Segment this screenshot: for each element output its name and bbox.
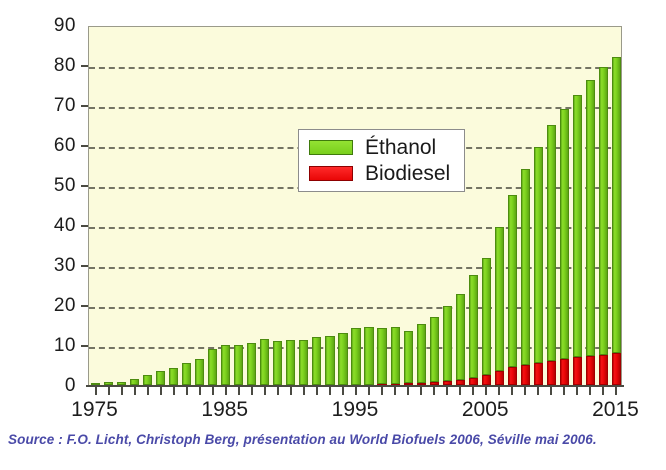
bar-segment-ethanol [443, 306, 452, 381]
y-axis-tick-label: 30 [54, 255, 76, 277]
x-axis-tick-mark [160, 386, 162, 395]
bar-segment-ethanol [195, 359, 204, 385]
bar-segment-ethanol [143, 375, 152, 385]
bar-segment-ethanol [508, 195, 517, 367]
bar-segment-ethanol [351, 328, 360, 385]
bar-group [377, 328, 386, 385]
x-axis-tick-mark [329, 386, 331, 395]
x-axis-tick-mark [368, 386, 370, 395]
legend-label-biodiesel: Biodiesel [365, 163, 450, 184]
bar-group [182, 363, 191, 385]
bar-segment-ethanol [325, 336, 334, 385]
bar-segment-ethanol [560, 109, 569, 359]
bar-segment-ethanol [299, 340, 308, 385]
bar-segment-ethanol [469, 275, 478, 378]
x-axis-tick-label: 2015 [592, 398, 639, 422]
x-axis-tick-mark [563, 386, 565, 395]
x-axis-tick-mark [186, 386, 188, 395]
y-axis-tick-label: 80 [54, 55, 76, 77]
bar-segment-ethanol [208, 349, 217, 385]
bar-group [417, 324, 426, 385]
bar-segment-ethanol [586, 80, 595, 356]
bar-group [456, 294, 465, 385]
y-axis-tick-mark [81, 345, 88, 347]
bar-segment-ethanol [234, 345, 243, 385]
y-axis: 0102030405060708090 [0, 0, 88, 412]
bar-group [156, 371, 165, 385]
bar-group [534, 147, 543, 385]
bar-group [521, 169, 530, 385]
bar-group [612, 57, 621, 385]
bar-group [430, 317, 439, 385]
bar-group [404, 331, 413, 385]
x-axis-tick-mark [316, 386, 318, 395]
bar-group [169, 368, 178, 385]
y-axis-tick-label: 0 [65, 375, 76, 397]
bar-segment-biodiesel [573, 357, 582, 385]
y-axis-tick-mark [81, 105, 88, 107]
y-axis-tick-label: 20 [54, 295, 76, 317]
bar-segment-ethanol [430, 317, 439, 382]
x-axis-tick-mark [264, 386, 266, 395]
x-axis-tick-mark [212, 386, 214, 395]
bar-group [482, 258, 491, 385]
bar-segment-biodiesel [495, 371, 504, 385]
x-axis-tick-mark [394, 386, 396, 395]
bar-segment-biodiesel [482, 375, 491, 385]
x-axis-tick-label: 1985 [201, 398, 248, 422]
bar-segment-ethanol [573, 95, 582, 357]
legend-swatch-ethanol [309, 140, 353, 155]
source-note: Source : F.O. Licht, Christoph Berg, pré… [8, 432, 597, 447]
y-axis-tick-mark [81, 305, 88, 307]
bar-segment-biodiesel [599, 355, 608, 385]
bar-group [260, 339, 269, 385]
bar-group [364, 327, 373, 385]
bar-group [573, 95, 582, 385]
bar-group [221, 345, 230, 385]
bar-group [299, 340, 308, 385]
bar-segment-ethanol [482, 258, 491, 375]
bar-segment-ethanol [338, 333, 347, 385]
chart-legend: Éthanol Biodiesel [298, 129, 465, 192]
bar-segment-biodiesel [586, 356, 595, 385]
bar-segment-ethanol [417, 324, 426, 383]
legend-item-ethanol: Éthanol [309, 137, 450, 158]
biofuel-production-chart: 0102030405060708090 Éthanol Biodiesel 19… [0, 0, 666, 470]
bar-segment-biodiesel [521, 365, 530, 385]
y-axis-tick-label: 90 [54, 15, 76, 37]
bar-group [312, 337, 321, 385]
x-axis-tick-mark [251, 386, 253, 395]
y-axis-tick-label: 60 [54, 135, 76, 157]
plot-area: Éthanol Biodiesel [88, 26, 622, 386]
bar-group [443, 306, 452, 385]
bar-group [560, 109, 569, 385]
bar-group [195, 359, 204, 385]
bar-group [508, 195, 517, 385]
y-axis-tick-mark [81, 265, 88, 267]
x-axis-tick-mark [459, 386, 461, 395]
bar-group [234, 345, 243, 385]
bar-group [391, 327, 400, 385]
bar-group [599, 67, 608, 385]
y-axis-tick-label: 50 [54, 175, 76, 197]
y-axis-tick-label: 40 [54, 215, 76, 237]
x-axis-tick-mark [446, 386, 448, 395]
bar-segment-ethanol [260, 339, 269, 385]
x-axis-tick-label: 1975 [71, 398, 118, 422]
x-axis-labels: 19751985199520052015 [0, 398, 666, 428]
x-axis-tick-mark [95, 386, 97, 395]
x-axis-tick-mark [511, 386, 513, 395]
bar-group [495, 227, 504, 385]
bar-segment-ethanol [547, 125, 556, 361]
bar-group [273, 341, 282, 385]
bar-segment-ethanol [534, 147, 543, 363]
y-axis-tick-mark [81, 185, 88, 187]
x-axis-tick-mark [420, 386, 422, 395]
y-axis-tick-label: 10 [54, 335, 76, 357]
bar-group [351, 328, 360, 385]
y-axis-tick-label: 70 [54, 95, 76, 117]
bar-segment-ethanol [391, 327, 400, 384]
x-axis-tick-mark [199, 386, 201, 395]
x-axis-tick-mark [381, 386, 383, 395]
y-axis-tick-mark [81, 225, 88, 227]
x-axis-ticks [88, 386, 622, 398]
bar-segment-ethanol [221, 345, 230, 385]
bar-segment-ethanol [599, 67, 608, 355]
x-axis-tick-mark [589, 386, 591, 395]
legend-swatch-biodiesel [309, 166, 353, 181]
bar-segment-biodiesel [547, 361, 556, 385]
x-axis-tick-mark [576, 386, 578, 395]
x-axis-tick-mark [225, 386, 227, 395]
x-axis-tick-mark [147, 386, 149, 395]
bar-segment-ethanol [247, 343, 256, 385]
legend-label-ethanol: Éthanol [365, 137, 436, 158]
y-axis-tick-mark [81, 145, 88, 147]
x-axis-tick-mark [485, 386, 487, 395]
x-axis-tick-mark [134, 386, 136, 395]
y-axis-tick-mark [81, 65, 88, 67]
x-axis-tick-mark [355, 386, 357, 395]
bar-segment-ethanol [612, 57, 621, 353]
bar-segment-ethanol [364, 327, 373, 385]
x-axis-tick-mark [433, 386, 435, 395]
bar-segment-ethanol [404, 331, 413, 384]
bar-segment-ethanol [169, 368, 178, 385]
bar-group [286, 340, 295, 385]
bar-segment-ethanol [312, 337, 321, 385]
bar-segment-ethanol [456, 294, 465, 380]
bar-group [208, 349, 217, 385]
x-axis-tick-mark [290, 386, 292, 395]
x-axis-tick-mark [108, 386, 110, 395]
bar-group [247, 343, 256, 385]
bar-segment-biodiesel [469, 378, 478, 385]
bar-segment-ethanol [377, 328, 386, 384]
bar-segment-biodiesel [534, 363, 543, 385]
bar-segment-ethanol [156, 371, 165, 385]
bar-group [143, 375, 152, 385]
bar-series-container [89, 27, 621, 385]
x-axis-tick-mark [524, 386, 526, 395]
bar-segment-ethanol [521, 169, 530, 365]
x-axis-tick-mark [277, 386, 279, 395]
x-axis-tick-mark [407, 386, 409, 395]
bar-segment-biodiesel [560, 359, 569, 385]
bar-segment-ethanol [286, 340, 295, 385]
x-axis-tick-mark [498, 386, 500, 395]
bar-segment-biodiesel [508, 367, 517, 385]
x-axis-tick-mark [121, 386, 123, 395]
bar-group [469, 275, 478, 385]
x-axis-tick-mark [615, 386, 617, 395]
bar-group [547, 125, 556, 385]
bar-group [586, 80, 595, 385]
legend-item-biodiesel: Biodiesel [309, 163, 450, 184]
x-axis-tick-mark [602, 386, 604, 395]
x-axis-tick-mark [537, 386, 539, 395]
x-axis-tick-mark [173, 386, 175, 395]
bar-group [325, 336, 334, 385]
x-axis-tick-mark [303, 386, 305, 395]
bar-segment-biodiesel [612, 353, 621, 385]
x-axis-tick-label: 1995 [332, 398, 379, 422]
bar-group [338, 333, 347, 385]
x-axis-tick-label: 2005 [462, 398, 509, 422]
bar-segment-ethanol [182, 363, 191, 385]
bar-segment-ethanol [273, 341, 282, 385]
x-axis-tick-mark [550, 386, 552, 395]
bar-segment-ethanol [495, 227, 504, 371]
x-axis-tick-mark [342, 386, 344, 395]
x-axis-tick-mark [472, 386, 474, 395]
x-axis-tick-mark [238, 386, 240, 395]
